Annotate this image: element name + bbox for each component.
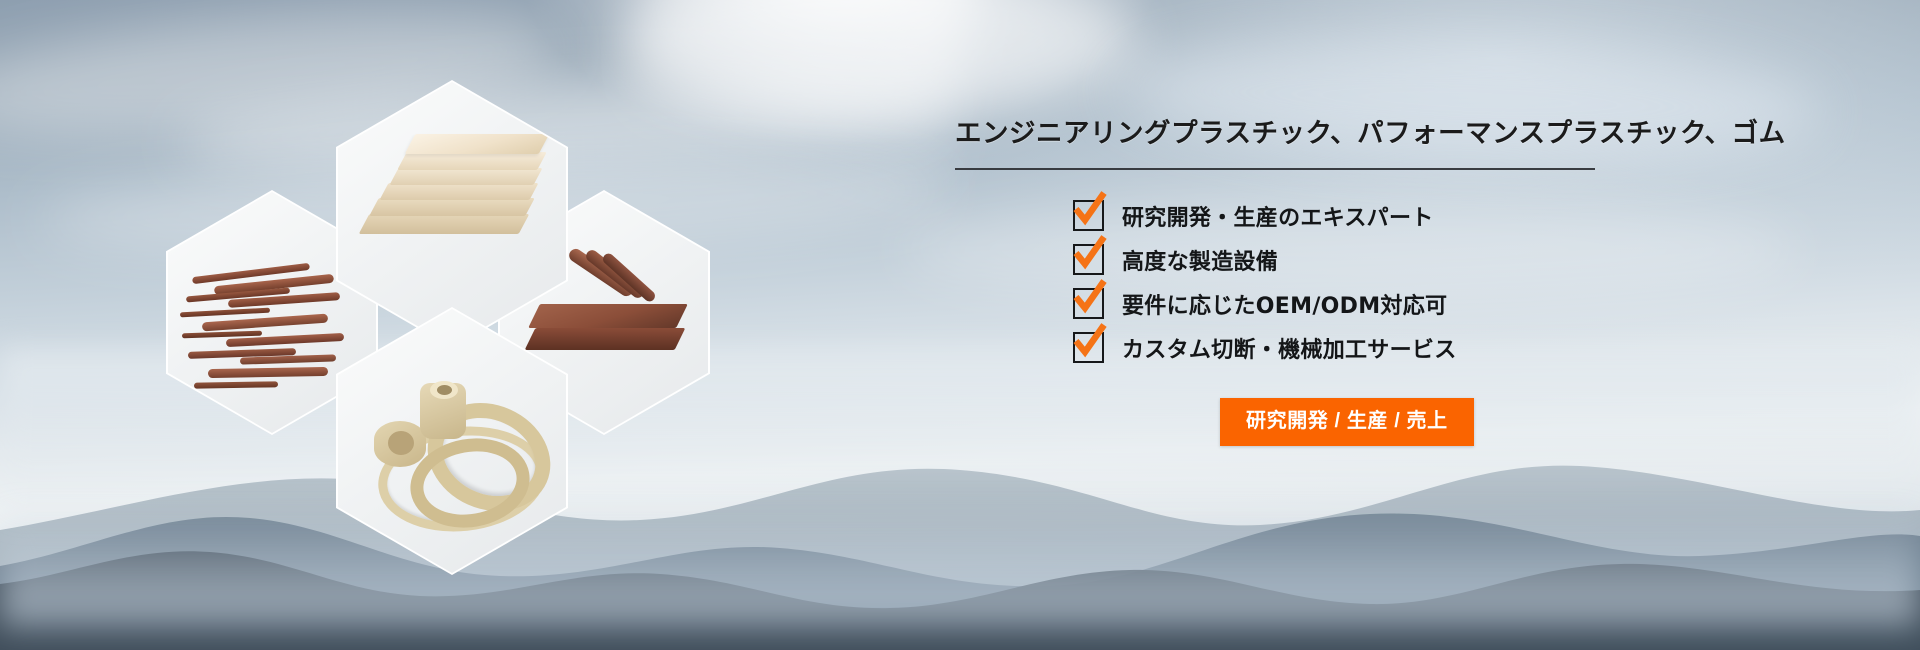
list-item[interactable]: カスタム切断・機械加工サービス [1073,332,1775,364]
page-title: エンジニアリングプラスチック、パフォーマンスプラスチック、ゴム [955,118,1775,150]
checkbox-checked-icon[interactable] [1073,244,1104,275]
checkbox-checked-icon[interactable] [1073,288,1104,319]
list-item-label: 研究開発・生産のエキスパート [1122,200,1434,232]
cta-container: 研究開発 / 生産 / 売上 [1220,398,1775,446]
list-item[interactable]: 要件に応じたOEM/ODM対応可 [1073,288,1775,320]
list-item-label: カスタム切断・機械加工サービス [1122,332,1457,364]
banner-content: エンジニアリングプラスチック、パフォーマンスプラスチック、ゴム 研究開発・生産の… [955,118,1775,446]
hero-banner: エンジニアリングプラスチック、パフォーマンスプラスチック、ゴム 研究開発・生産の… [0,0,1920,650]
list-item[interactable]: 高度な製造設備 [1073,244,1775,276]
feature-checklist: 研究開発・生産のエキスパート 高度な製造設備 要件に応じたOEM/ODM対応可 … [1073,200,1775,364]
rd-production-sales-button[interactable]: 研究開発 / 生産 / 売上 [1220,398,1474,446]
list-item-label: 要件に応じたOEM/ODM対応可 [1122,288,1447,320]
checkbox-checked-icon[interactable] [1073,332,1104,363]
list-item-label: 高度な製造設備 [1122,244,1278,276]
list-item[interactable]: 研究開発・生産のエキスパート [1073,200,1775,232]
checkbox-checked-icon[interactable] [1073,200,1104,231]
product-hexagon-collage [150,72,710,542]
title-divider [955,168,1595,170]
